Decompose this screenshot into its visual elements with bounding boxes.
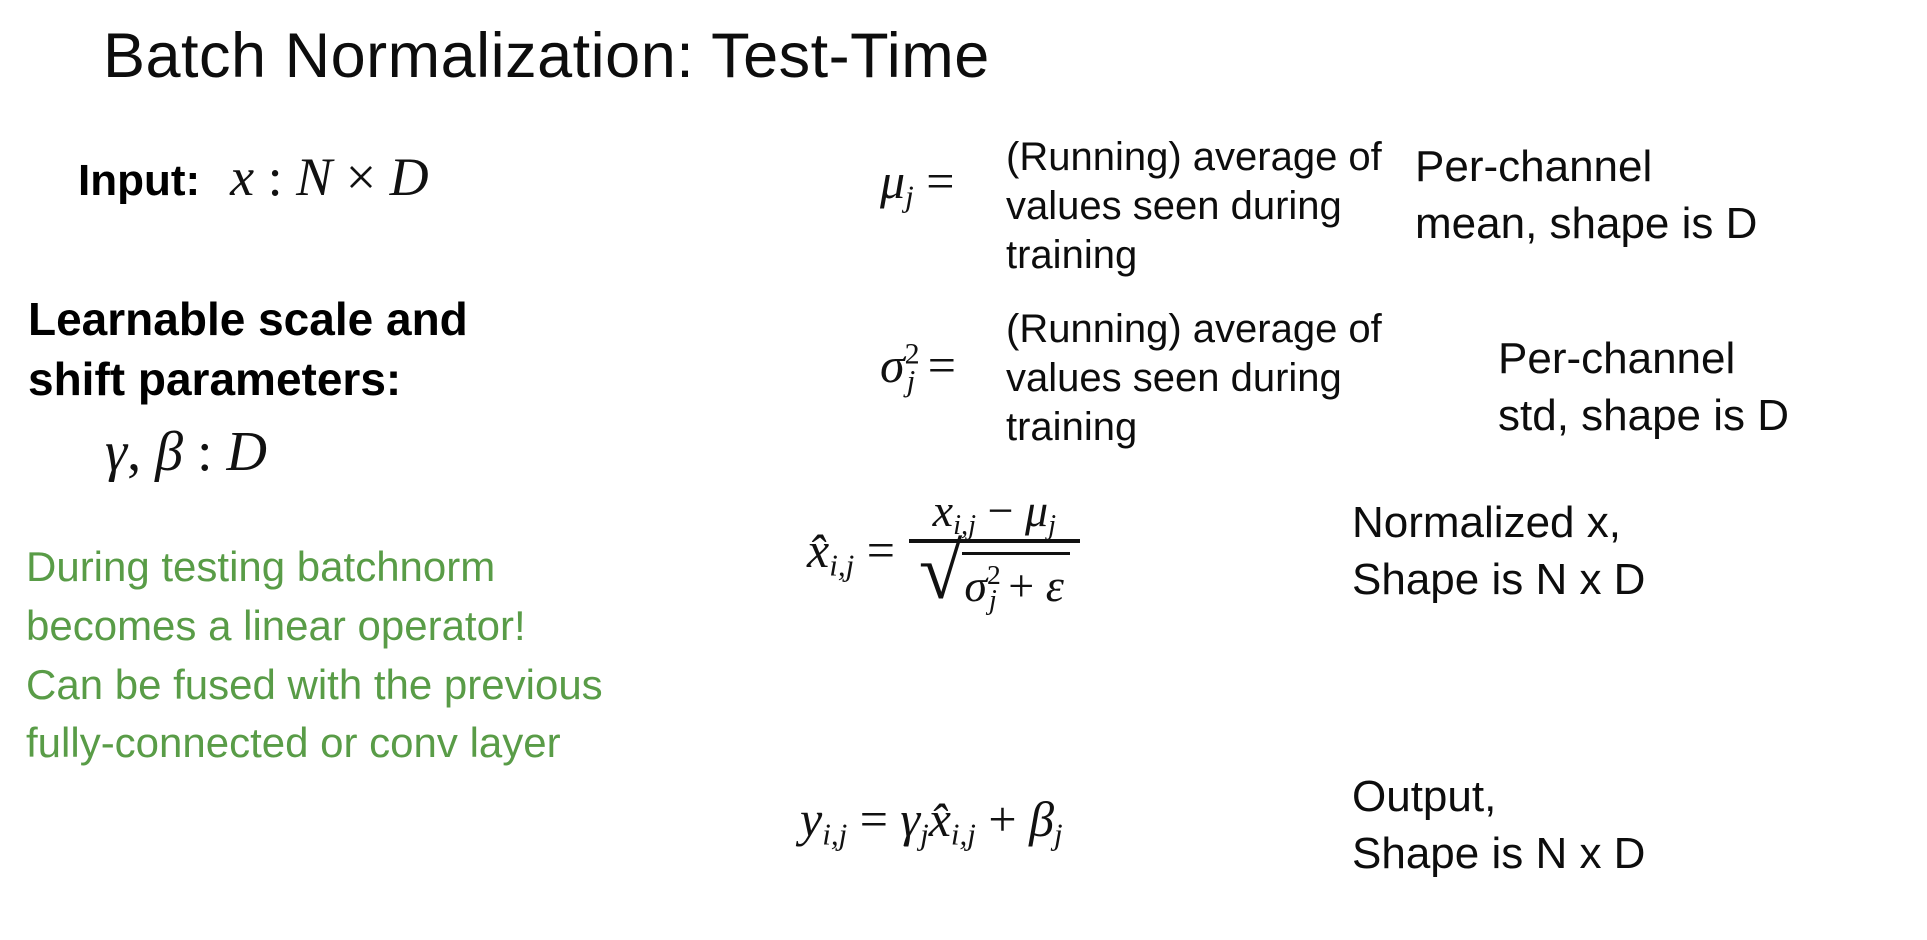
green-commentary: During testing batchnorm becomes a linea… bbox=[26, 538, 603, 773]
running-mean-shape-note: Per-channel mean, shape is D bbox=[1415, 138, 1757, 252]
gamma-subscript: j bbox=[920, 817, 929, 852]
input-formula-D: D bbox=[390, 147, 429, 207]
learnable-formula-gamma: γ bbox=[105, 421, 127, 483]
equals-sign: = bbox=[860, 791, 888, 847]
page-title: Batch Normalization: Test-Time bbox=[103, 20, 990, 92]
fraction: xi,j − μj √ σ2j + ε bbox=[909, 484, 1080, 612]
xhat-subscript: i,j bbox=[951, 817, 976, 852]
running-var-shape-note: Per-channel std, shape is D bbox=[1498, 330, 1789, 444]
output-y-shape-note: Output, Shape is N x D bbox=[1352, 768, 1645, 882]
learnable-heading-line-1: Learnable scale and bbox=[28, 290, 468, 350]
equation-lhs-running-mean: μj = bbox=[880, 152, 954, 210]
green-note-line-3: Can be fused with the previous bbox=[26, 656, 603, 715]
gamma-symbol: γ bbox=[900, 791, 920, 847]
denominator-sigma-subscript: j bbox=[989, 585, 997, 616]
slide-canvas: Batch Normalization: Test-Time Input: x … bbox=[0, 0, 1927, 940]
plus-sign: + bbox=[988, 791, 1016, 847]
learnable-formula-beta: β bbox=[155, 421, 183, 483]
input-formula-N: N bbox=[296, 147, 332, 207]
learnable-formula-colon: : bbox=[197, 421, 213, 483]
input-formula-x: x bbox=[230, 147, 254, 207]
numerator-mu-subscript: j bbox=[1048, 510, 1056, 541]
normalized-x-shape-note: Normalized x, Shape is N x D bbox=[1352, 494, 1645, 608]
learnable-formula-comma: , bbox=[127, 421, 141, 483]
learnable-heading-line-2: shift parameters: bbox=[28, 350, 468, 410]
running-mean-description: (Running) average of values seen during … bbox=[1006, 133, 1382, 281]
numerator-mu: μ bbox=[1025, 485, 1048, 536]
plus-sign: + bbox=[1008, 560, 1034, 611]
green-note-line-2: becomes a linear operator! bbox=[26, 597, 603, 656]
square-root: √ σ2j + ε bbox=[919, 546, 1070, 612]
equals-sign: = bbox=[867, 522, 895, 578]
equation-output-y: yi,j = γjx̂i,j + βj bbox=[800, 790, 1063, 848]
fraction-denominator: √ σ2j + ε bbox=[909, 543, 1080, 612]
xhat-subscript: i,j bbox=[829, 548, 854, 583]
beta-subscript: j bbox=[1054, 817, 1063, 852]
input-formula: x : N × D bbox=[230, 146, 428, 208]
running-var-description: (Running) average of values seen during … bbox=[1006, 305, 1382, 453]
learnable-formula-D: D bbox=[227, 421, 267, 483]
mu-subscript: j bbox=[905, 179, 914, 214]
radical-icon: √ bbox=[919, 548, 962, 614]
input-row: Input: x : N × D bbox=[78, 146, 429, 208]
xhat-symbol: x̂ bbox=[807, 522, 829, 578]
equation-lhs-running-var: σ2j = bbox=[880, 336, 956, 394]
denominator-epsilon: ε bbox=[1046, 560, 1064, 611]
denominator-sigma: σ bbox=[964, 560, 987, 611]
input-formula-colon: : bbox=[268, 147, 283, 207]
equals-sign: = bbox=[928, 337, 956, 393]
sigma-subscript: j bbox=[907, 363, 916, 398]
y-subscript: i,j bbox=[822, 817, 847, 852]
equation-lhs-normalized-x: x̂i,j = bbox=[807, 521, 895, 579]
mu-symbol: μ bbox=[880, 153, 905, 209]
y-symbol: y bbox=[800, 791, 822, 847]
beta-symbol: β bbox=[1029, 791, 1054, 847]
xhat-symbol: x̂ bbox=[929, 791, 951, 847]
minus-sign: − bbox=[988, 485, 1014, 536]
input-label: Input: bbox=[78, 156, 200, 206]
sigma-symbol: σ bbox=[880, 337, 905, 393]
learnable-formula: γ, β : D bbox=[105, 420, 267, 484]
input-formula-times: × bbox=[346, 147, 376, 207]
learnable-params-heading: Learnable scale and shift parameters: bbox=[28, 290, 468, 410]
equation-normalized-x: x̂i,j = xi,j − μj √ σ2j + ε bbox=[807, 486, 1080, 614]
green-note-line-1: During testing batchnorm bbox=[26, 538, 603, 597]
radicand: σ2j + ε bbox=[962, 552, 1070, 612]
green-note-line-4: fully-connected or conv layer bbox=[26, 714, 603, 773]
equals-sign: = bbox=[926, 153, 954, 209]
